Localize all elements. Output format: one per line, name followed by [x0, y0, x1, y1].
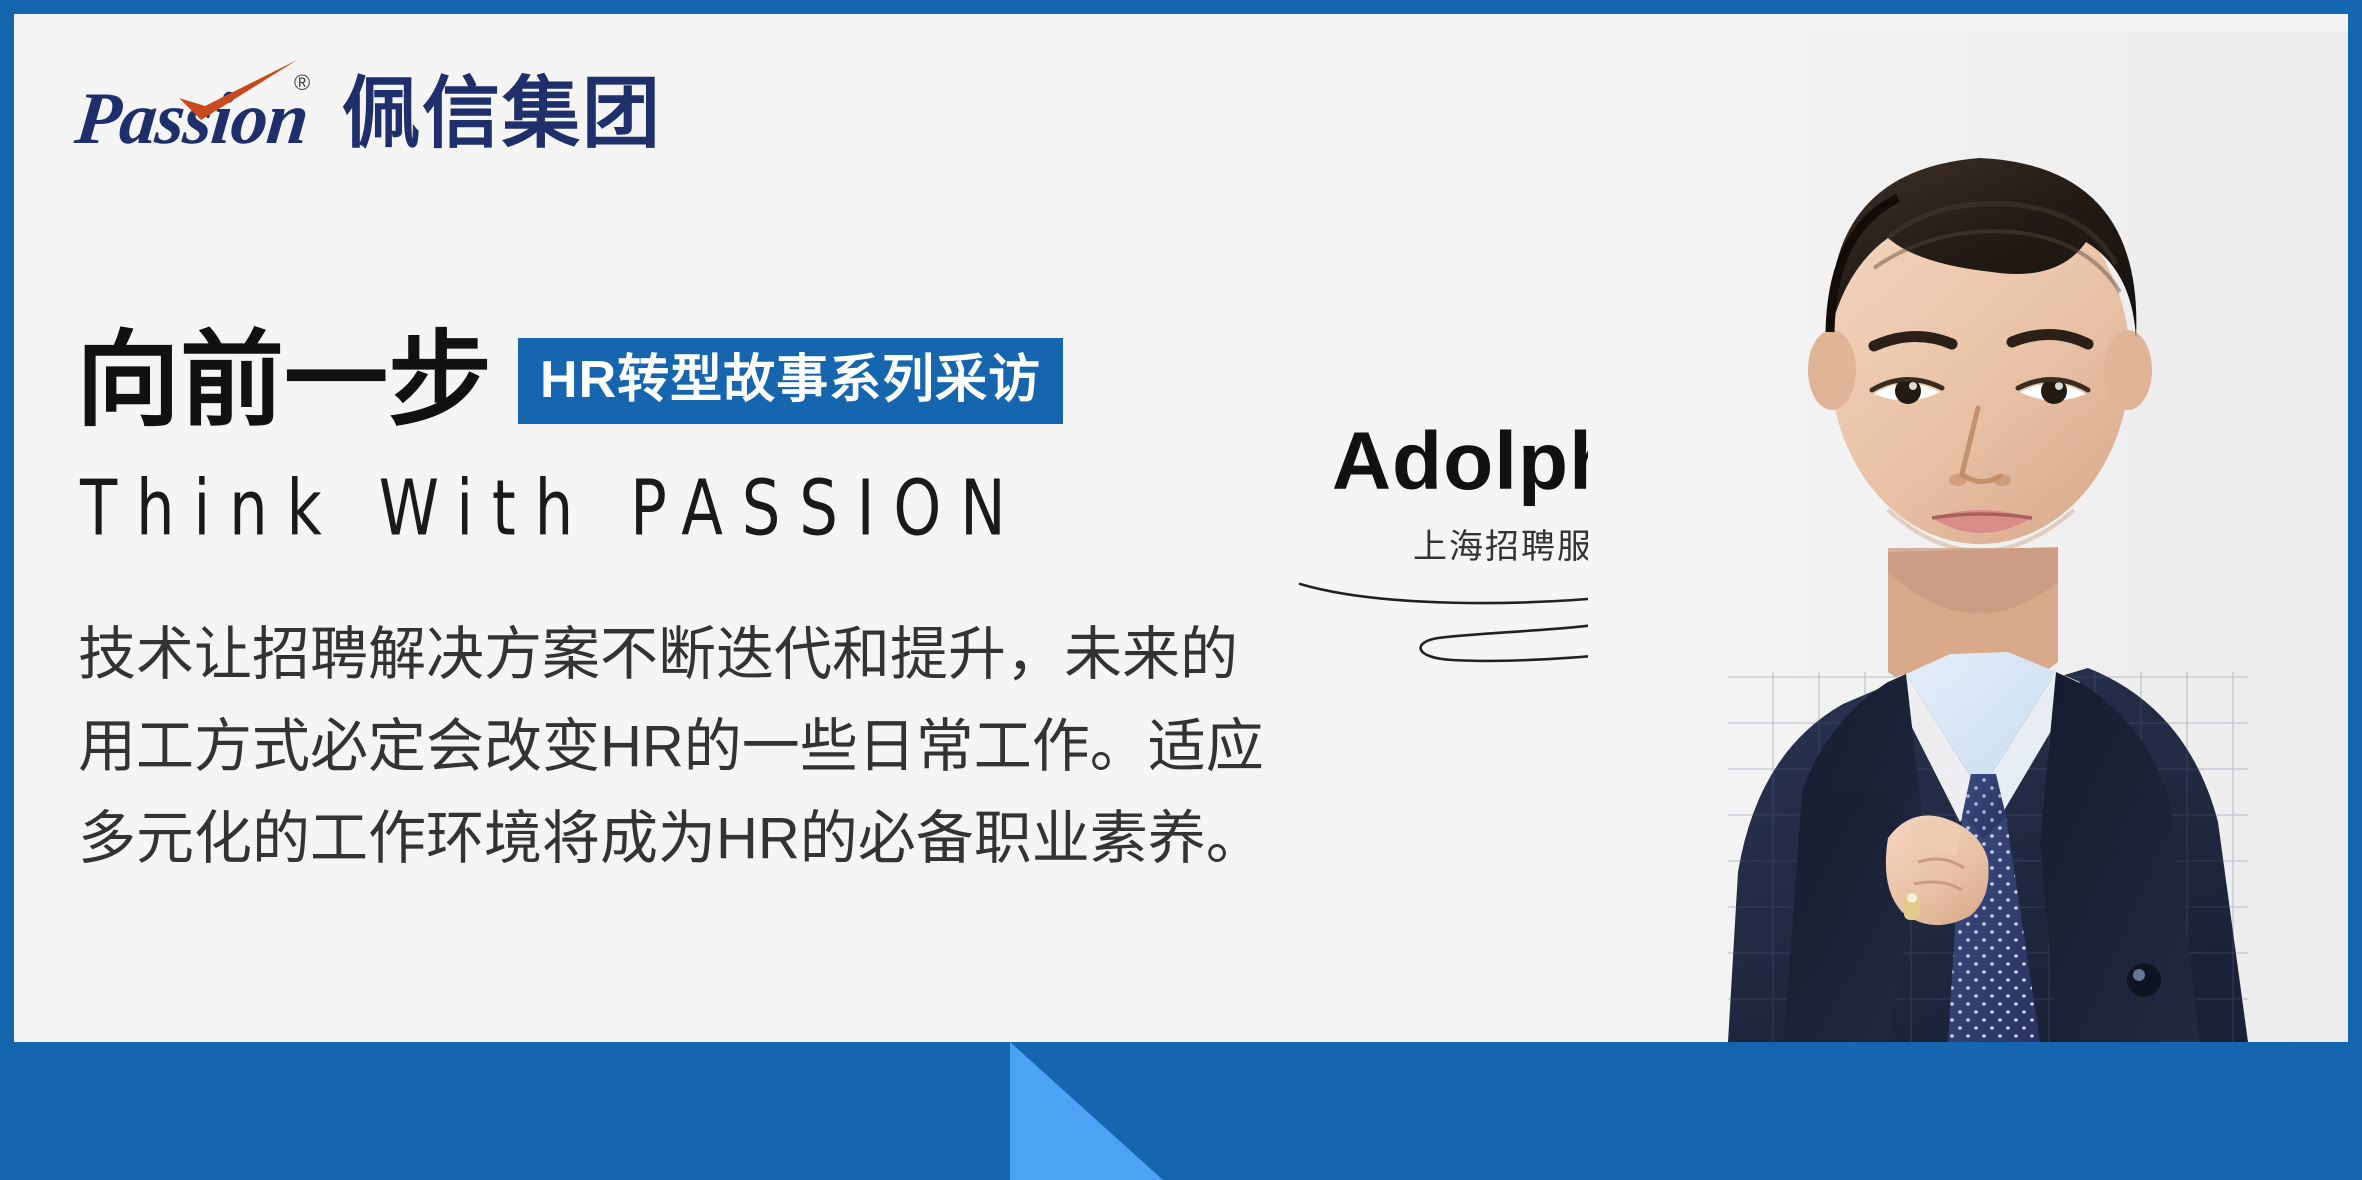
- person-department: 上海招聘服务部: [1304, 519, 1774, 568]
- quote-line-2: 用工方式必定会改变HR的一些日常工作。适应: [78, 701, 1278, 793]
- logo-mark: Passion ®: [76, 62, 326, 154]
- checkmark-icon: [171, 58, 301, 124]
- quote-line-3: 多元化的工作环境将成为HR的必备职业素养。: [78, 793, 1278, 885]
- brand-logo: Passion ® 佩信集团: [76, 62, 662, 154]
- quote-block: 技术让招聘解决方案不断迭代和提升，未来的 用工方式必定会改变HR的一些日常工作。…: [78, 609, 1278, 885]
- quote-line-1: 技术让招聘解决方案不断迭代和提升，未来的: [78, 609, 1278, 701]
- headline-row: 向前一步 HR转型故事系列采访: [76, 329, 1063, 433]
- person-identity: Adolph.Lu 上海招聘服务部: [1304, 419, 1774, 568]
- logo-chinese-name: 佩信集团: [342, 72, 662, 154]
- person-name: Adolph.Lu: [1304, 419, 1774, 505]
- interview-banner: Passion ® 佩信集团 向前一步 HR转型故事系列采访 Think Wit…: [0, 0, 2362, 1180]
- registered-trademark-icon: ®: [294, 70, 310, 96]
- swash-flourish-icon: [1292, 562, 1712, 672]
- content-card: Passion ® 佩信集团 向前一步 HR转型故事系列采访 Think Wit…: [14, 14, 2348, 1042]
- series-badge: HR转型故事系列采访: [518, 338, 1063, 424]
- tagline: Think With PASSION: [80, 463, 1024, 552]
- page-title: 向前一步: [76, 329, 492, 433]
